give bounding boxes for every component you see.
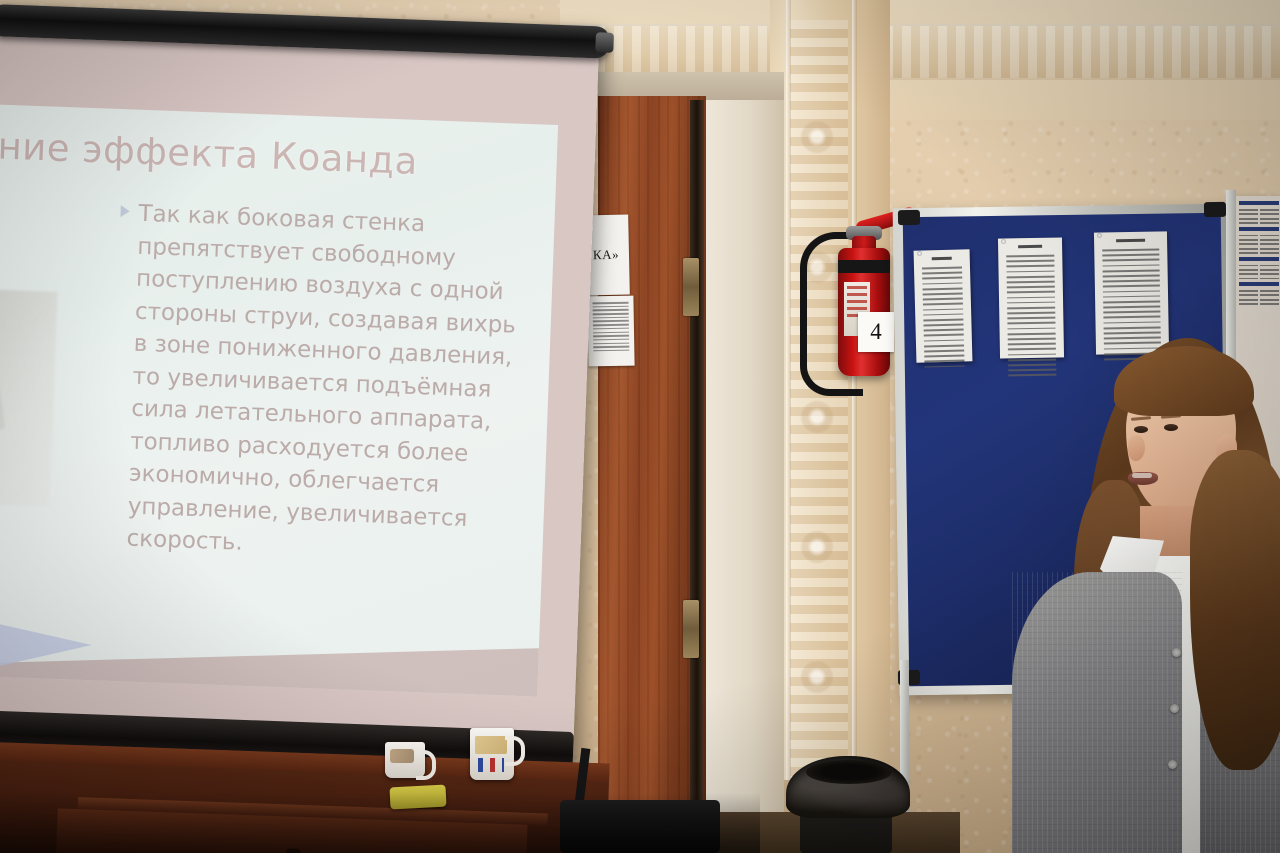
presenter-hair-fringe [1114,346,1254,416]
cardigan-button-1 [1172,648,1181,657]
slide-photo [0,285,58,506]
pin-center [1001,239,1006,244]
door-hinge-upper [683,258,699,316]
pin-right [1097,233,1102,238]
board-document-left-title [931,257,952,261]
bottom-shadow [0,793,760,853]
cardigan-button-2 [1170,704,1179,713]
large-mug-decoration [475,736,507,754]
cardigan-button-3 [1168,760,1177,769]
slide-body-text: Так как боковая стенка препятствует своб… [126,198,529,570]
presenter-cardigan-left [1012,572,1182,853]
board-document-left[interactable] [914,249,973,362]
presenter-eye-left [1134,426,1148,433]
poster-header-4 [1239,282,1279,286]
slide-surface: …енение эффекта Коанда Так как боковая с… [0,104,558,697]
door-inner-wall [700,100,784,840]
door-notice-bottom [587,296,634,367]
board-corner-top-right [1204,202,1226,217]
board-document-right-title [1116,239,1146,243]
door-gap [690,100,704,844]
poster-header-2 [1239,227,1279,231]
poster-header-1 [1239,201,1279,205]
board-document-center-title [1018,245,1043,248]
fire-extinguisher-band [838,260,890,273]
door-notice-bottom-lines [592,302,629,352]
door-notice-top-text: КА» [593,247,619,264]
cardigan-knit-texture-left [1012,572,1182,853]
presenter-teeth [1132,473,1152,478]
presenter-eye-right [1164,424,1178,431]
large-mug[interactable] [470,728,514,780]
pilaster-edge-left [786,0,791,780]
door-hinge-lower [683,600,699,658]
slide-title: …енение эффекта Коанда [0,121,449,184]
classroom-photo-scene: КА» …енение эффекта Коанда Так как боков… [0,0,1280,853]
triangle-bullet-icon [120,205,129,217]
small-mug[interactable] [385,742,425,778]
small-mug-handle [416,750,436,780]
large-mug-decoration-lower [478,758,504,772]
pilaster-flower-1 [800,120,834,154]
presenter-hair-right-strand [1190,450,1280,770]
trash-bin-opening [806,760,892,784]
pilaster-flower-5 [800,660,834,694]
fire-extinguisher-number: 4 [858,312,894,352]
roller-end-cap [595,32,614,53]
pin-left [917,251,922,256]
pilaster-flower-4 [800,530,834,564]
board-corner-top-left [898,210,920,225]
presenter [1040,330,1280,853]
cornice-ornament [560,26,1280,78]
board-document-left-lines [922,266,965,367]
poster-header-3 [1239,257,1279,261]
projector-screen: …енение эффекта Коанда Так как боковая с… [0,8,600,770]
small-mug-decoration [390,749,414,763]
pilaster-flower-3 [800,400,834,434]
large-mug-handle [505,736,525,766]
